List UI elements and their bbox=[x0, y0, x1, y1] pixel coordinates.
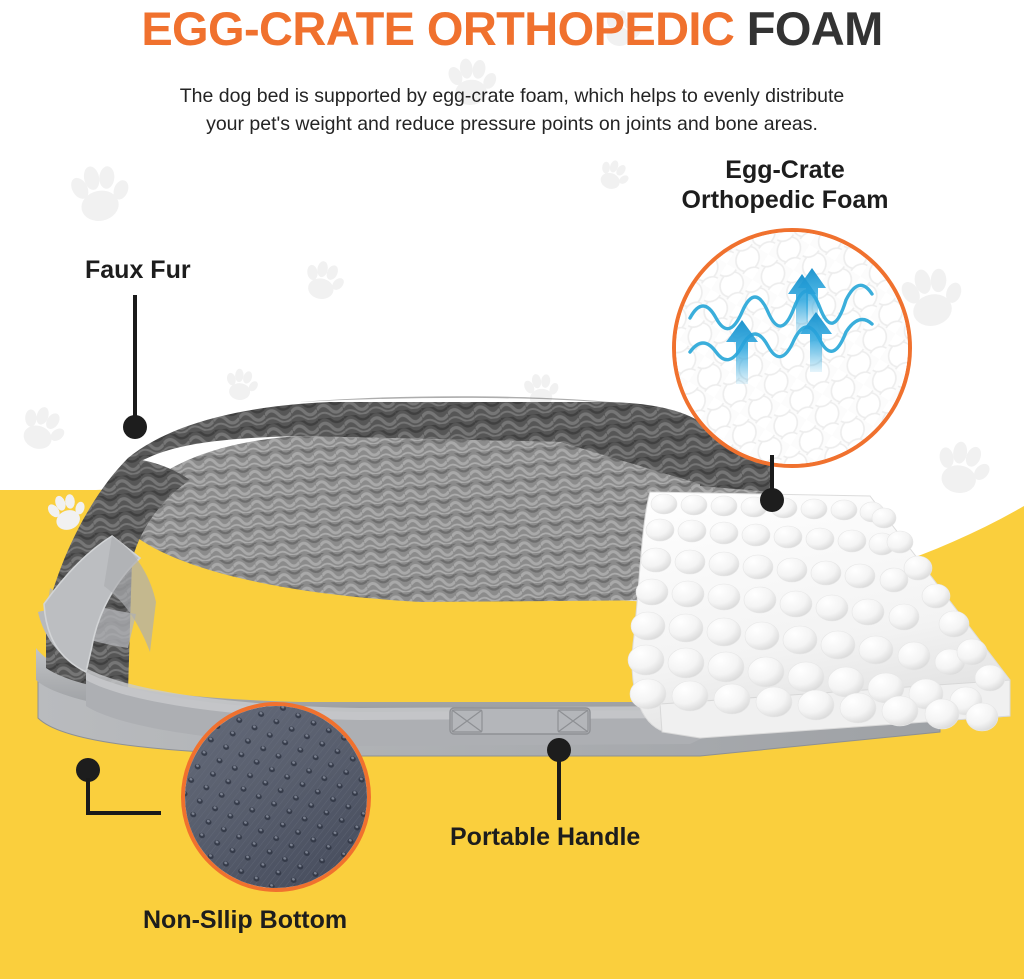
leader-line-non-slip-vertical bbox=[86, 778, 90, 814]
infographic-canvas: EGG-CRATE ORTHOPEDIC FOAM The dog bed is… bbox=[0, 0, 1024, 979]
description-line-2: your pet's weight and reduce pressure po… bbox=[50, 110, 974, 138]
callout-egg-crate-line-2: Orthopedic Foam bbox=[610, 185, 960, 215]
dog-bed-illustration bbox=[0, 380, 1024, 810]
page-title: EGG-CRATE ORTHOPEDIC FOAM bbox=[0, 2, 1024, 56]
callout-label-faux-fur: Faux Fur bbox=[85, 255, 191, 285]
leader-dot-faux-fur bbox=[123, 415, 147, 439]
non-slip-dots-texture bbox=[185, 706, 367, 888]
page-title-highlight: EGG-CRATE ORTHOPEDIC bbox=[141, 2, 734, 55]
leader-line-non-slip-horizontal bbox=[86, 811, 161, 815]
egg-crate-foam-slab bbox=[628, 492, 1010, 738]
leader-dot-portable-handle bbox=[547, 738, 571, 762]
callout-label-portable-handle: Portable Handle bbox=[450, 822, 640, 852]
description-text: The dog bed is supported by egg-crate fo… bbox=[50, 82, 974, 138]
page-title-plain: FOAM bbox=[747, 2, 883, 55]
portable-handle-strap bbox=[450, 708, 590, 734]
inset-non-slip-bottom bbox=[181, 702, 371, 892]
callout-label-non-slip-bottom: Non-Sllip Bottom bbox=[143, 905, 347, 935]
callout-label-egg-crate-foam: Egg-Crate Orthopedic Foam bbox=[610, 155, 960, 215]
callout-egg-crate-line-1: Egg-Crate bbox=[610, 155, 960, 185]
leader-dot-egg-crate bbox=[760, 488, 784, 512]
leader-line-faux-fur bbox=[133, 295, 137, 427]
inset-egg-crate-foam-diagram bbox=[672, 228, 912, 468]
description-line-1: The dog bed is supported by egg-crate fo… bbox=[50, 82, 974, 110]
